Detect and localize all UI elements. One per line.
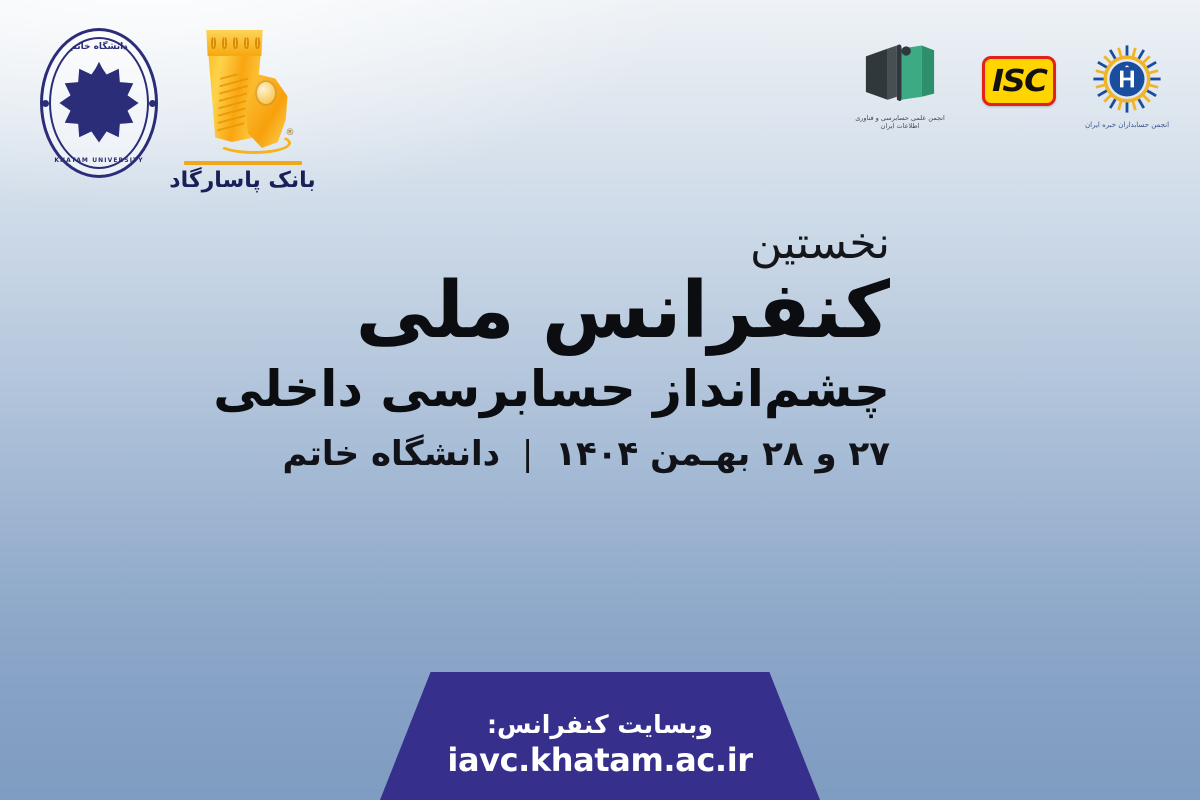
isc-label: ISC [992,64,1046,99]
left-logo-group: ® بانک پاسارگاد دانشگاه خاتم [40,28,305,193]
khatam-seal-bottom-text: KHATAM UNIVERSITY [43,157,155,164]
conference-website-banner[interactable]: وبسایت کنفرانس: iavc.khatam.ac.ir [380,672,820,800]
certified-accountants-caption: انجمن حسابداران خبره ایران [1085,121,1169,130]
logo-certified-accountants: انجمن حسابداران خبره ایران [1084,44,1170,130]
event-date: ۲۷ و ۲۸ بهـمن ۱۴۰۴ [555,434,890,474]
website-label: وبسایت کنفرانس: [487,710,713,739]
right-logo-group: انجمن حسابداران خبره ایران ISC انجمن علم… [846,44,1170,131]
pasargad-lion-face-icon [255,80,277,106]
bank-pasargad-mark: ® [187,28,299,160]
logo-khatam-university: دانشگاه خاتم [40,28,158,178]
website-banner-content: وبسایت کنفرانس: iavc.khatam.ac.ir [380,672,820,800]
headline-subtitle: چشم‌انداز حسابرسی داخلی [213,359,890,419]
bank-pasargad-label: بانک پاسارگاد [169,168,315,193]
isc-badge: ISC [982,56,1056,106]
audit-it-association-caption: انجمن علمی حسابرسی و فناوری اطلاعات ایرا… [846,114,954,131]
seal-dot-left-icon [42,100,49,107]
khatam-star-icon [56,60,142,146]
open-book-icon [861,44,939,106]
poster-headline: نخستین کنفرانس ملی چشم‌انداز حسابرسی داخ… [213,222,890,476]
registered-mark: ® [286,128,295,138]
pasargad-tail-icon [217,132,291,154]
logo-isc: ISC [982,56,1056,106]
headline-title: کنفرانس ملی [213,268,890,355]
headline-prefix: نخستین [213,222,890,266]
seal-dot-right-icon [149,100,156,107]
conference-poster: ® بانک پاسارگاد دانشگاه خاتم [0,0,1200,800]
gear-sunburst-icon [1092,44,1162,114]
khatam-seal: دانشگاه خاتم [40,28,158,178]
logo-audit-it-association: انجمن علمی حسابرسی و فناوری اطلاعات ایرا… [846,44,954,131]
headline-date-venue: ۲۷ و ۲۸ بهـمن ۱۴۰۴ | دانشگاه خاتم [213,433,890,476]
date-venue-separator: | [512,434,543,474]
pasargad-underline [184,161,302,165]
logo-bank-pasargad: ® بانک پاسارگاد [180,28,305,193]
website-url[interactable]: iavc.khatam.ac.ir [447,741,752,779]
event-venue: دانشگاه خاتم [282,434,500,474]
pasargad-crown-icon [203,30,267,56]
khatam-seal-top-text: دانشگاه خاتم [43,42,155,52]
